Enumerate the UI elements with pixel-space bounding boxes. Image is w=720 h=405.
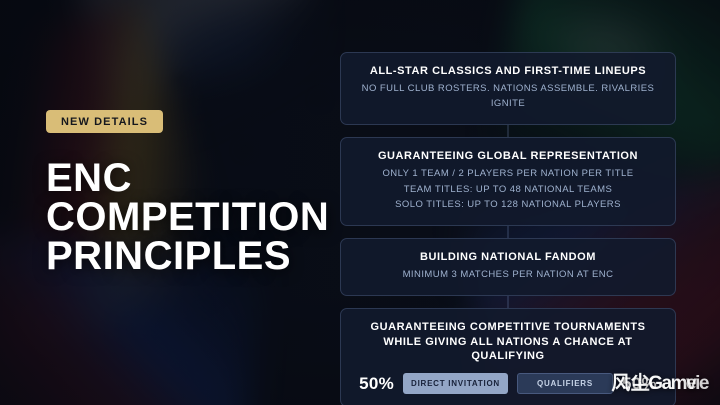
principle-card-global-representation: GUARANTEEING GLOBAL REPRESENTATION ONLY … [340, 137, 676, 226]
card-title-line-1: GUARANTEEING COMPETITIVE TOURNAMENTS [355, 320, 661, 334]
card-title: GUARANTEEING GLOBAL REPRESENTATION [355, 149, 661, 163]
watermark-latin-text: Gamevie [648, 373, 708, 395]
card-title: BUILDING NATIONAL FANDOM [355, 250, 661, 264]
card-subtitle: MINIMUM 3 MATCHES PER NATION AT ENC [355, 268, 661, 283]
card-subtitle-1: ONLY 1 TEAM / 2 PLAYERS PER NATION PER T… [355, 167, 661, 182]
watermark-logo: 风尘 Gamevie [611, 368, 708, 395]
watermark-cjk-text: 风尘 [611, 368, 650, 395]
principles-card-list: ALL-STAR CLASSICS AND FIRST-TIME LINEUPS… [340, 52, 676, 405]
card-connector [340, 226, 676, 238]
qualifiers-pill[interactable]: QUALIFIERS [517, 373, 613, 394]
headline-column: NEW DETAILS ENC COMPETITION PRINCIPLES [46, 110, 336, 277]
watermark-latin-ghost: vie [686, 373, 708, 394]
direct-invitation-percentage: 50% [359, 374, 394, 394]
card-subtitle-2: TEAM TITLES: UP TO 48 NATIONAL TEAMS [355, 183, 661, 198]
new-details-badge: NEW DETAILS [46, 110, 163, 133]
page-title: ENC COMPETITION PRINCIPLES [46, 159, 336, 277]
card-subtitle-3: SOLO TITLES: UP TO 128 NATIONAL PLAYERS [355, 198, 661, 213]
principle-card-national-fandom: BUILDING NATIONAL FANDOM MINIMUM 3 MATCH… [340, 238, 676, 296]
card-subtitle: NO FULL CLUB ROSTERS. NATIONS ASSEMBLE. … [355, 82, 661, 111]
page-title-line-3: PRINCIPLES [46, 237, 336, 276]
principle-card-all-star: ALL-STAR CLASSICS AND FIRST-TIME LINEUPS… [340, 52, 676, 125]
card-connector [340, 296, 676, 308]
page-title-line-1: ENC [46, 159, 336, 198]
card-title-line-2: WHILE GIVING ALL NATIONS A CHANCE AT QUA… [355, 335, 661, 364]
card-connector [340, 125, 676, 137]
page-title-line-2: COMPETITION [46, 198, 336, 237]
card-title: ALL-STAR CLASSICS AND FIRST-TIME LINEUPS [355, 64, 661, 78]
direct-invitation-pill[interactable]: DIRECT INVITATION [403, 373, 508, 394]
slide-root: NEW DETAILS ENC COMPETITION PRINCIPLES A… [0, 0, 720, 405]
